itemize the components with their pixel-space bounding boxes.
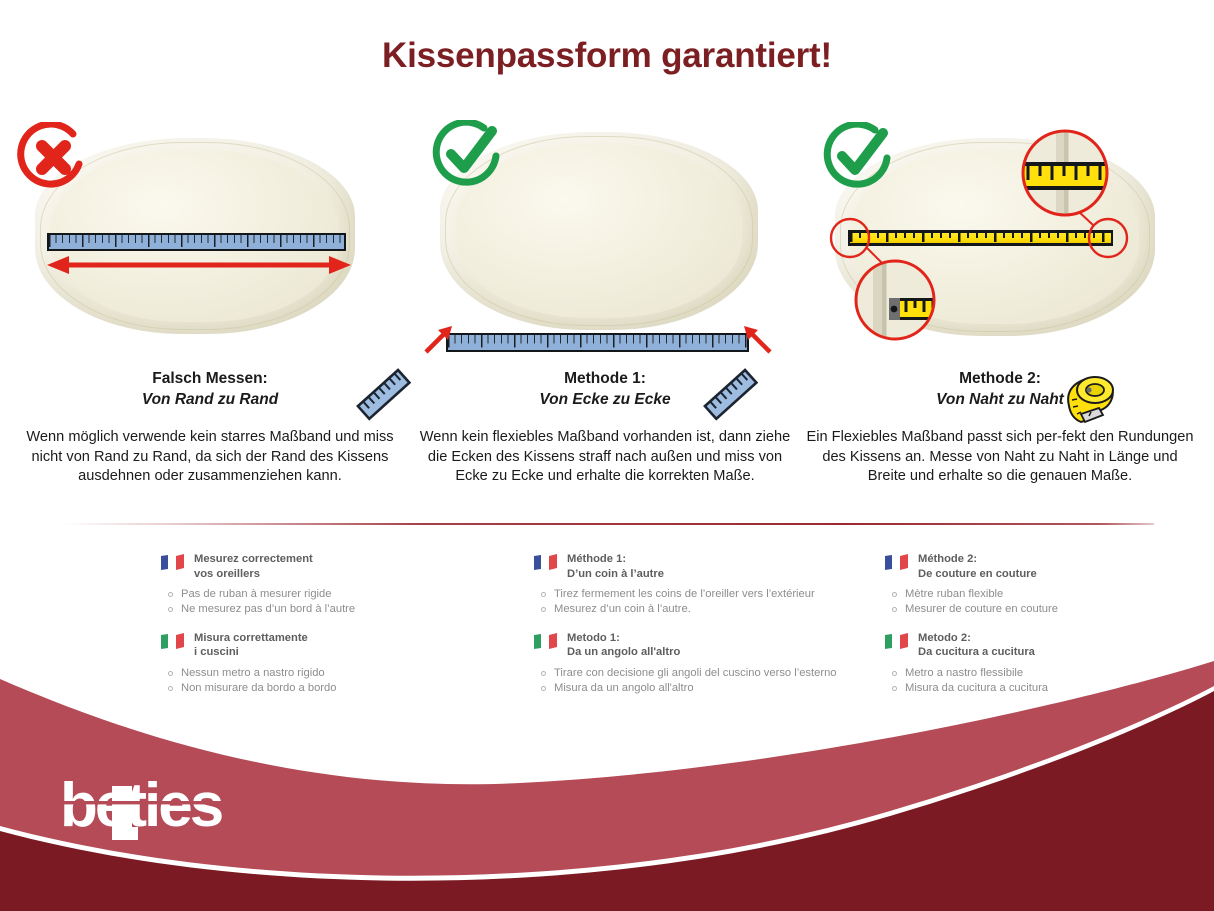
- green-check-badge: [823, 122, 897, 196]
- column-body-text: Wenn möglich verwende kein starres Maßba…: [15, 428, 405, 487]
- rigid-ruler-overlay: [47, 233, 346, 251]
- beties-logo: beties: [60, 772, 290, 840]
- french-list: Tirez fermement les coins de l’oreiller …: [533, 587, 873, 617]
- red-corner-arrow-right: [740, 322, 774, 356]
- red-corner-arrow-left: [422, 322, 456, 356]
- method-columns: Falsch Messen: Von Rand zu Rand Wenn mög…: [0, 120, 1214, 510]
- italian-flag-icon: [533, 633, 558, 650]
- red-cross-badge: [17, 122, 91, 196]
- list-item-text: Mesurez d’un coin à l’autre.: [554, 602, 691, 617]
- bullet-icon: [541, 592, 546, 597]
- french-title-2: vos oreillers: [194, 567, 313, 582]
- bullet-icon: [892, 592, 897, 597]
- french-title-1: Méthode 2:: [918, 552, 1037, 567]
- column-methode-2: Methode 2: Von Naht zu Naht Ein Flexiebl…: [805, 120, 1195, 510]
- italian-title-2: Da cucitura a cucitura: [918, 645, 1035, 660]
- magnifier-callout-bottom-left: [853, 258, 937, 342]
- french-flag-icon: [160, 554, 185, 571]
- list-item-text: Mètre ruban flexible: [905, 587, 1003, 602]
- rigid-ruler-icon: [355, 368, 417, 426]
- column-body-text: Ein Flexiebles Maßband passt sich per-fe…: [805, 428, 1195, 487]
- italian-title-1: Metodo 1:: [567, 631, 680, 646]
- svg-text:beties: beties: [60, 772, 222, 840]
- french-title-2: De couture en couture: [918, 567, 1037, 582]
- french-titles: Mesurez correctement vos oreillers: [194, 552, 313, 581]
- list-item-text: Pas de ruban à mesurer rigide: [181, 587, 332, 602]
- column-falsch-messen: Falsch Messen: Von Rand zu Rand Wenn mög…: [15, 120, 405, 510]
- french-group: Méthode 1: D’un coin à l’autre Tirez fer…: [533, 552, 873, 617]
- magnifier-callout-top-right: [1020, 128, 1110, 218]
- italian-flag-icon: [884, 633, 909, 650]
- italian-titles: Metodo 2: Da cucitura a cucitura: [918, 631, 1035, 660]
- italian-titles: Metodo 1: Da un angolo all'altro: [567, 631, 680, 660]
- bullet-icon: [541, 607, 546, 612]
- list-item: Mesurer de couture en couture: [892, 602, 1214, 617]
- tape-measure-roll-icon: [1055, 366, 1121, 428]
- french-title-1: Méthode 1:: [567, 552, 664, 567]
- french-flag-icon: [884, 554, 909, 571]
- list-item: Ne mesurez pas d’un bord à l’autre: [168, 602, 500, 617]
- red-double-arrow: [43, 250, 355, 280]
- bullet-icon: [168, 592, 173, 597]
- italian-title-1: Misura correttamente: [194, 631, 308, 646]
- infographic-page: Kissenpassform garantiert!: [0, 0, 1214, 911]
- italian-title-2: Da un angolo all'altro: [567, 645, 680, 660]
- heading-line-1: Falsch Messen:: [15, 368, 405, 389]
- italian-titles: Misura correttamente i cuscini: [194, 631, 308, 660]
- french-title-2: D’un coin à l’autre: [567, 567, 664, 582]
- french-list: Pas de ruban à mesurer rigide Ne mesurez…: [160, 587, 500, 617]
- illustration-seam-to-seam: [805, 120, 1195, 360]
- italian-flag-icon: [160, 633, 185, 650]
- section-divider: [62, 523, 1154, 525]
- illustration-wrong-measure: [15, 120, 405, 360]
- list-item: Pas de ruban à mesurer rigide: [168, 587, 500, 602]
- french-titles: Méthode 1: D’un coin à l’autre: [567, 552, 664, 581]
- column-heading: Falsch Messen: Von Rand zu Rand: [15, 368, 405, 410]
- page-title: Kissenpassform garantiert!: [0, 36, 1214, 76]
- list-item: Tirez fermement les coins de l’oreiller …: [541, 587, 873, 602]
- column-body-text: Wenn kein flexiebles Maßband vorhanden i…: [410, 428, 800, 487]
- french-list: Mètre ruban flexible Mesurer de couture …: [884, 587, 1214, 617]
- french-titles: Méthode 2: De couture en couture: [918, 552, 1037, 581]
- list-item-text: Tirez fermement les coins de l’oreiller …: [554, 587, 815, 602]
- green-check-badge: [432, 120, 506, 194]
- rigid-ruler-icon: [702, 368, 764, 426]
- column-methode-1: Methode 1: Von Ecke zu Ecke Wenn kein fl…: [410, 120, 800, 510]
- list-item-text: Ne mesurez pas d’un bord à l’autre: [181, 602, 355, 617]
- heading-line-2: Von Naht zu Naht: [805, 389, 1195, 410]
- list-item: Mesurez d’un coin à l’autre.: [541, 602, 873, 617]
- list-item-text: Mesurer de couture en couture: [905, 602, 1058, 617]
- bullet-icon: [892, 607, 897, 612]
- list-item: Mètre ruban flexible: [892, 587, 1214, 602]
- italian-title-1: Metodo 2:: [918, 631, 1035, 646]
- italian-title-2: i cuscini: [194, 645, 308, 660]
- illustration-corner-to-corner: [410, 120, 800, 360]
- french-group: Méthode 2: De couture en couture Mètre r…: [884, 552, 1214, 617]
- french-group: Mesurez correctement vos oreillers Pas d…: [160, 552, 500, 617]
- french-flag-icon: [533, 554, 558, 571]
- rigid-ruler-below-pillow: [446, 333, 749, 352]
- column-heading: Methode 2: Von Naht zu Naht: [805, 368, 1195, 410]
- bullet-icon: [168, 607, 173, 612]
- heading-line-2: Von Rand zu Rand: [15, 389, 405, 410]
- heading-line-1: Methode 2:: [805, 368, 1195, 389]
- french-title-1: Mesurez correctement: [194, 552, 313, 567]
